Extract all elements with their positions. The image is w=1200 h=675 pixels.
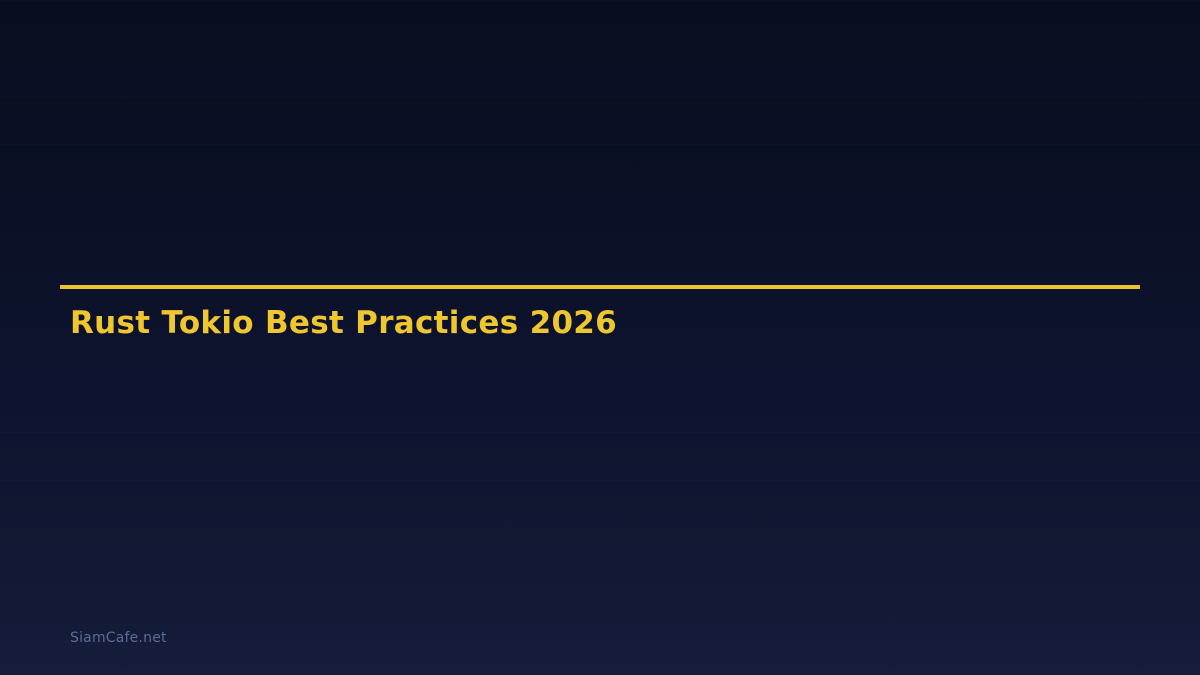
page-title: Rust Tokio Best Practices 2026 [70,305,617,342]
footer-brand-label: SiamCafe.net [70,630,167,646]
presentation-slide: Rust Tokio Best Practices 2026 SiamCafe.… [0,0,1200,675]
title-block: Rust Tokio Best Practices 2026 [60,285,1140,289]
accent-rule-divider [60,285,1140,289]
